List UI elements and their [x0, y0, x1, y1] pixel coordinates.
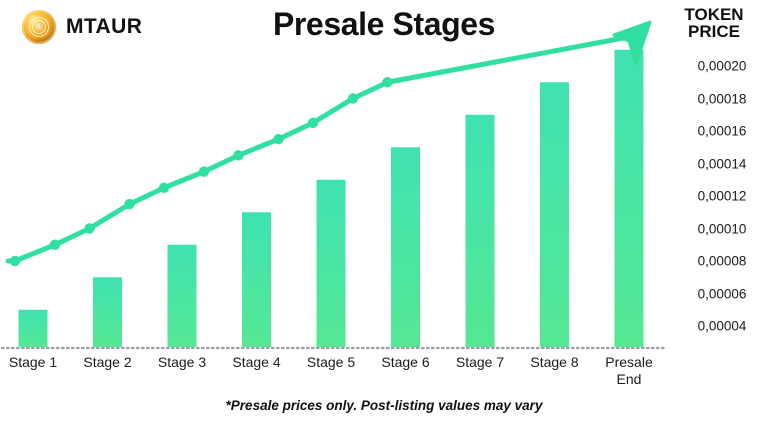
y-tick-label: 0,00012: [676, 189, 768, 204]
bar-3: [168, 245, 197, 347]
presale-stages-chart-page: MTAUR Presale Stages TOKEN PRICE 0,00020…: [0, 0, 768, 432]
x-tick-label: Stage 4: [232, 354, 280, 371]
y-tick-label: 0,00018: [676, 91, 768, 106]
trend-marker-3: [84, 223, 94, 233]
trend-marker-5: [159, 183, 169, 193]
bar-9: [615, 50, 644, 347]
y-tick-label: 0,00006: [676, 286, 768, 301]
x-tick-label: Stage 1: [9, 354, 57, 371]
x-tick-label: Stage 3: [158, 354, 206, 371]
y-tick-label: 0,00004: [676, 319, 768, 334]
y-tick-label: 0,00020: [676, 59, 768, 74]
bar-2: [93, 277, 122, 347]
trend-marker-8: [273, 134, 283, 144]
trend-marker-7: [233, 150, 243, 160]
y-tick-label: 0,00008: [676, 254, 768, 269]
plot-area: [0, 0, 670, 360]
y-axis-ticks: 0,000200,000180,000160,000140,000120,000…: [676, 0, 768, 360]
bar-7: [466, 115, 495, 347]
x-tick-label: Stage 2: [83, 354, 131, 371]
bar-8: [540, 82, 569, 347]
x-axis-labels: Stage 1Stage 2Stage 3Stage 4Stage 5Stage…: [0, 354, 670, 400]
y-tick-label: 0,00016: [676, 124, 768, 139]
trend-marker-10: [348, 93, 358, 103]
y-tick-label: 0,00010: [676, 221, 768, 236]
trend-marker-4: [124, 199, 134, 209]
trend-marker-6: [199, 166, 209, 176]
x-tick-label: Stage 5: [307, 354, 355, 371]
chart-svg: [0, 0, 670, 360]
trend-marker-1: [10, 256, 20, 266]
trend-marker-2: [50, 240, 60, 250]
footnote: *Presale prices only. Post-listing value…: [0, 398, 768, 413]
x-tick-label: Presale End: [605, 354, 652, 388]
x-tick-label: Stage 8: [530, 354, 578, 371]
bar-6: [391, 147, 420, 347]
bar-1: [19, 310, 48, 347]
y-tick-label: 0,00014: [676, 156, 768, 171]
x-tick-label: Stage 7: [456, 354, 504, 371]
trend-marker-9: [308, 118, 318, 128]
bar-5: [317, 180, 346, 347]
x-tick-label: Stage 6: [381, 354, 429, 371]
bar-4: [242, 212, 271, 347]
trend-marker-11: [382, 77, 392, 87]
